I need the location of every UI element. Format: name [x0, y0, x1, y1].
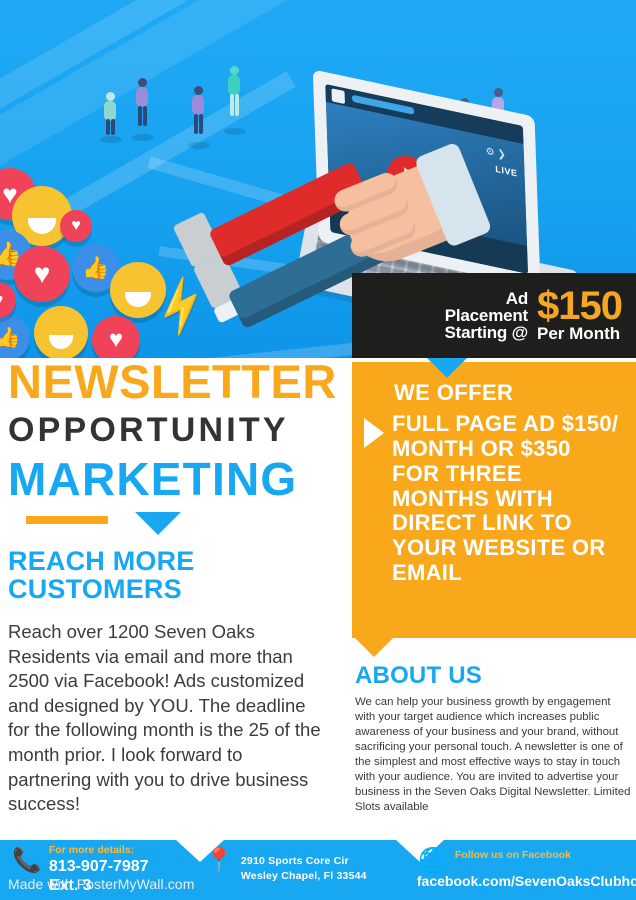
- headline-marketing: MARKETING: [8, 456, 297, 502]
- triangle-right-icon: [364, 418, 384, 448]
- reaction-heart-icon: ♥: [92, 316, 140, 358]
- offer-body: FULL PAGE AD $150/ MONTH OR $350 FOR THR…: [392, 412, 622, 586]
- footer-address-line-1: 2910 Sports Core Cir: [241, 854, 367, 869]
- reaction-laugh-icon: [34, 306, 88, 358]
- price-lead-line-2: Placement: [444, 307, 528, 324]
- globe-icon: 🌐: [418, 849, 448, 873]
- triangle-down-orange-icon: [355, 638, 393, 657]
- phone-icon: 📞: [12, 849, 42, 873]
- flyer-page: ♥ ♥ 👍 ♥ 👍 ♥ 👍 ♥ ⚙: [0, 0, 636, 900]
- headline-opportunity: OPPORTUNITY: [8, 413, 289, 447]
- headline-newsletter: NEWSLETTER: [8, 358, 337, 405]
- price-banner-lead: Ad Placement Starting @: [444, 290, 528, 342]
- footer-social-url[interactable]: facebook.com/SevenOaksClubhouse: [417, 873, 636, 890]
- price-amount: $150: [537, 288, 622, 325]
- footer-phone-label: For more details:: [49, 844, 182, 857]
- about-section: ABOUT US We can help your business growt…: [355, 662, 631, 815]
- poster-watermark: Made with PosterMyWall.com: [8, 876, 194, 892]
- footer-address-line-2: Wesley Chapel, Fl 33544: [241, 869, 367, 884]
- footer-address-section[interactable]: 📍 2910 Sports Core Cir Wesley Chapel, Fl…: [204, 840, 394, 900]
- about-body: We can help your business growth by enga…: [355, 695, 631, 815]
- reach-body: Reach over 1200 Seven Oaks Residents via…: [8, 620, 326, 817]
- price-lead-line-1: Ad: [444, 290, 528, 307]
- price-period: Per Month: [537, 325, 622, 343]
- offer-box: WE OFFER FULL PAGE AD $150/ MONTH OR $35…: [352, 362, 636, 638]
- location-pin-icon: 📍: [204, 849, 234, 873]
- triangle-down-blue-icon: [427, 358, 467, 378]
- price-banner: Ad Placement Starting @ $150 Per Month: [352, 273, 636, 358]
- offer-title: WE OFFER: [394, 380, 622, 406]
- reaction-heart-icon: ♥: [60, 210, 92, 242]
- offer-row: FULL PAGE AD $150/ MONTH OR $350 FOR THR…: [364, 412, 622, 586]
- screen-avatar: [331, 88, 345, 104]
- divider-orange-bar: [26, 516, 108, 524]
- price-lead-line-3: Starting @: [444, 324, 528, 341]
- footer-social-label: Follow us on Facebook: [455, 849, 636, 862]
- about-title: ABOUT US: [355, 662, 631, 690]
- triangle-down-blue-icon: [135, 512, 181, 535]
- price-banner-amount-group: $150 Per Month: [537, 288, 622, 343]
- reach-title: REACH MORE CUSTOMERS: [8, 548, 238, 603]
- footer-social-section[interactable]: 🌐 Follow us on Facebook facebook.com/Sev…: [418, 840, 634, 900]
- reaction-heart-icon: ♥: [14, 246, 70, 302]
